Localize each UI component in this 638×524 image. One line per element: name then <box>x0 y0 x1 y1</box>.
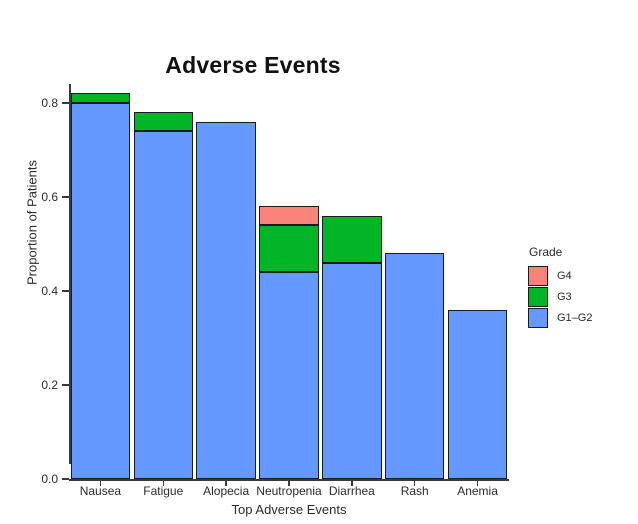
bar-segment <box>322 263 381 479</box>
bar-segment <box>134 112 193 131</box>
legend-swatch <box>528 266 548 286</box>
legend-title: Grade <box>528 245 632 259</box>
legend-items: G4G3G1–G2 <box>528 265 632 328</box>
bar-segment <box>448 310 507 479</box>
legend-swatch <box>528 287 548 307</box>
legend-label: G1–G2 <box>557 312 592 324</box>
bar-segment <box>259 272 318 479</box>
bar-segment <box>259 225 318 272</box>
bar-segment <box>71 93 130 102</box>
bar-segment <box>259 206 318 225</box>
legend-item[interactable]: G1–G2 <box>528 307 632 328</box>
bar-segment <box>134 131 193 479</box>
legend: Grade G4G3G1–G2 <box>528 245 632 328</box>
bar-segment <box>385 253 444 479</box>
legend-label: G3 <box>557 291 572 303</box>
legend-item[interactable]: G4 <box>528 265 632 286</box>
legend-label: G4 <box>557 270 572 282</box>
bar-segment <box>322 216 381 263</box>
bar-segment <box>71 103 130 479</box>
legend-swatch <box>528 308 548 328</box>
legend-item[interactable]: G3 <box>528 286 632 307</box>
chart-canvas: Adverse Events Proportion of Patients To… <box>0 0 638 524</box>
bar-segment <box>196 122 255 479</box>
